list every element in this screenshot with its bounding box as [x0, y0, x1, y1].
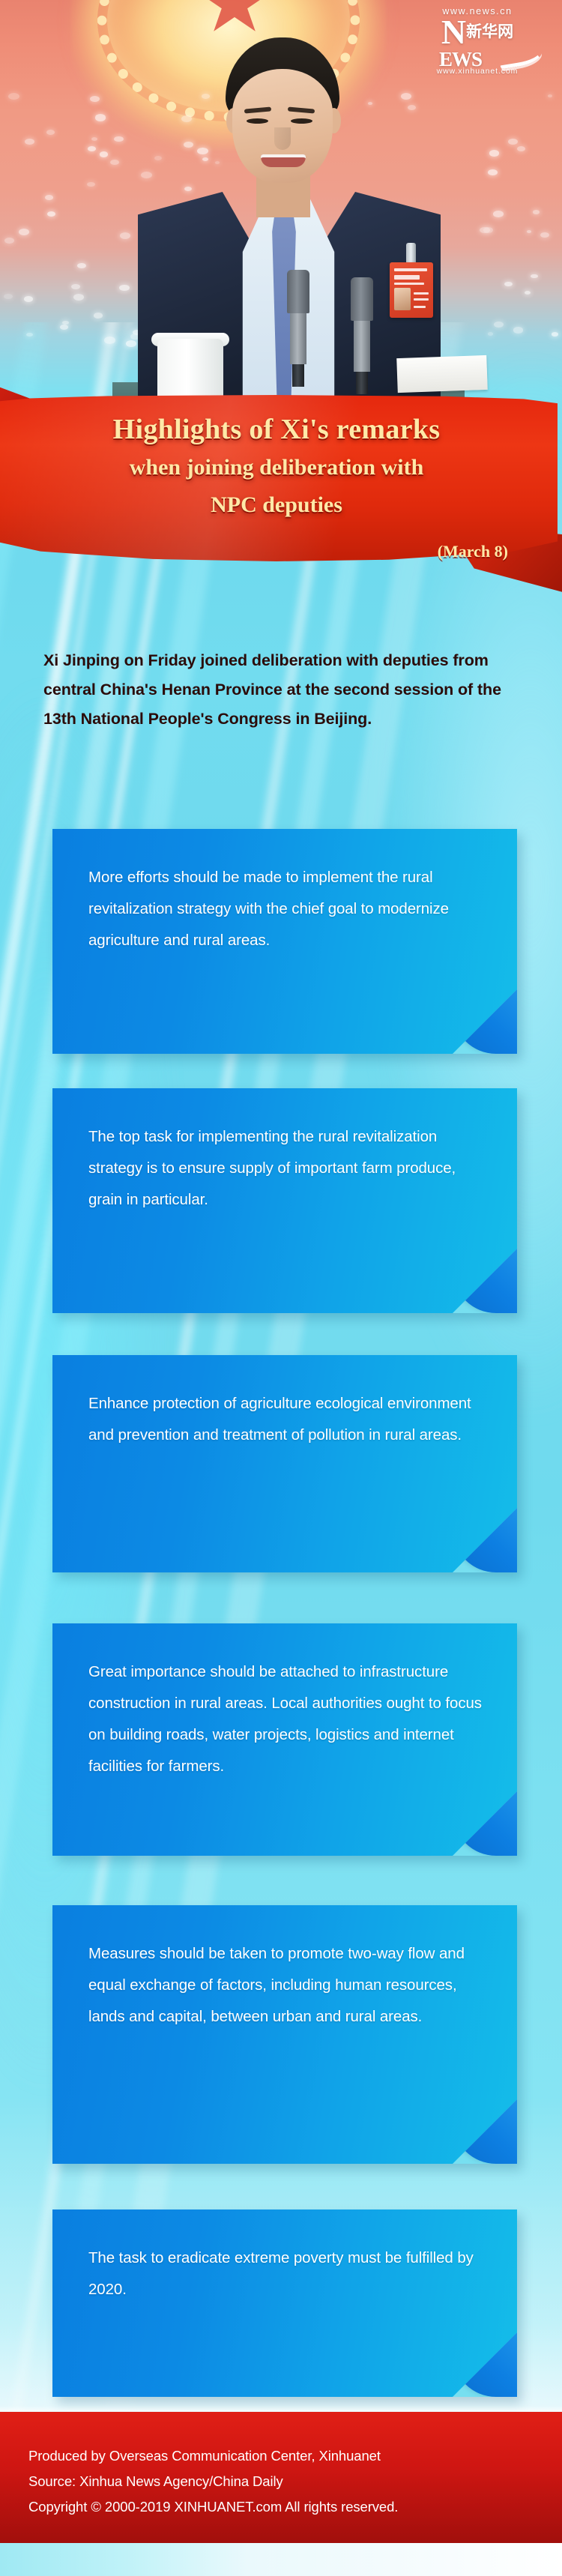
quote-card-5: Measures should be taken to promote two-…: [52, 1905, 517, 2164]
quote-card-4: Great importance should be attached to i…: [52, 1623, 517, 1856]
logo-letter-n: N: [441, 17, 465, 47]
documents-stack: [396, 355, 488, 393]
footer-source: Source: Xinhua News Agency/China Daily: [28, 2473, 283, 2490]
logo-url-top: www.news.cn: [406, 6, 549, 16]
quote-card-1: More efforts should be made to implement…: [52, 829, 517, 1054]
footer-produced-by: Produced by Overseas Communication Cente…: [28, 2448, 381, 2464]
badge-portrait: [394, 288, 411, 310]
mouth: [261, 154, 306, 167]
logo-chinese-name: 新华网: [466, 24, 513, 40]
footer-copyright: Copyright © 2000-2019 XINHUANET.com All …: [28, 2499, 398, 2515]
xinhuanet-logo[interactable]: www.news.cn N 新华网 EWS www.xinhuanet.com: [406, 6, 549, 78]
quote-card-6: The task to eradicate extreme poverty mu…: [52, 2209, 517, 2397]
quote-card-2-text: The top task for implementing the rural …: [88, 1121, 486, 1216]
quote-card-3-text: Enhance protection of agriculture ecolog…: [88, 1388, 486, 1451]
logo-word-news: EWS: [439, 48, 482, 71]
title-line-2: when joining deliberation with: [0, 449, 558, 486]
quote-card-1-text: More efforts should be made to implement…: [88, 862, 486, 956]
quote-card-6-text: The task to eradicate extreme poverty mu…: [88, 2242, 486, 2305]
title-date: (March 8): [438, 542, 508, 561]
footer-base-strip: [0, 2543, 562, 2576]
title-banner: Highlights of Xi's remarks when joining …: [0, 395, 562, 582]
footer-bar: Produced by Overseas Communication Cente…: [0, 2412, 562, 2543]
quote-card-4-text: Great importance should be attached to i…: [88, 1656, 486, 1782]
title-line-3: NPC deputies: [0, 486, 558, 524]
eye-right: [291, 118, 312, 124]
xi-jinping-photo: [112, 30, 465, 420]
banner-title-block: Highlights of Xi's remarks when joining …: [0, 410, 558, 524]
intro-paragraph: Xi Jinping on Friday joined deliberation…: [43, 646, 523, 734]
infographic-poster: www.news.cn N 新华网 EWS www.xinhuanet.com …: [0, 0, 562, 2576]
title-line-1: Highlights of Xi's remarks: [0, 410, 558, 449]
eye-left: [247, 118, 268, 124]
quote-card-3: Enhance protection of agriculture ecolog…: [52, 1355, 517, 1572]
quote-card-5-text: Measures should be taken to promote two-…: [88, 1938, 486, 2033]
quote-card-2: The top task for implementing the rural …: [52, 1088, 517, 1313]
npc-delegate-badge: [390, 262, 433, 318]
nose: [274, 127, 291, 150]
